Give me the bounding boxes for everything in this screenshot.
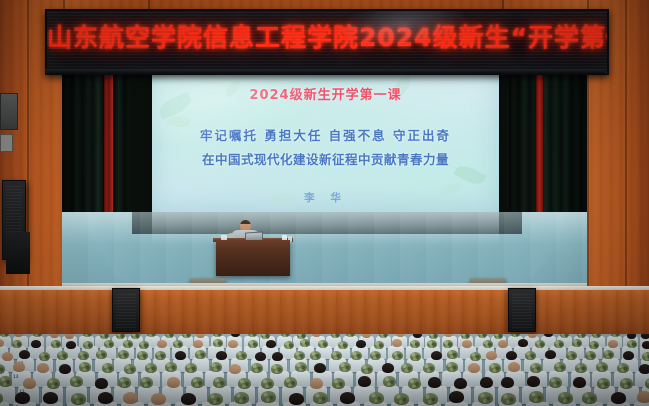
audience-head-with-cap <box>294 351 305 360</box>
apron-texture <box>0 290 649 338</box>
audience-head <box>23 378 36 389</box>
speaker-cabinet-left <box>112 288 140 332</box>
audience-head-with-cap <box>131 334 140 339</box>
audience-head-with-cap <box>554 340 564 348</box>
audience-head-with-cap <box>284 377 297 388</box>
audience-head-with-cap <box>446 362 458 372</box>
audience-head-with-cap <box>236 351 247 360</box>
audience-head-with-cap <box>525 351 536 360</box>
audience-head <box>314 363 326 373</box>
audience-head-with-cap <box>478 392 493 404</box>
audience-area: 15131215 <box>0 334 649 406</box>
audience-head-with-cap <box>370 351 381 360</box>
audience-head-with-cap <box>443 340 453 348</box>
audience-head-with-cap <box>118 377 131 388</box>
audience-head-with-cap <box>627 340 637 348</box>
audience-head-with-cap <box>401 363 413 373</box>
audience-head-with-cap <box>383 376 396 387</box>
audience-head-with-cap <box>558 392 573 404</box>
audience-head-with-cap <box>410 352 421 361</box>
audience-head-with-cap <box>429 334 438 339</box>
audience-head-with-cap <box>461 334 470 339</box>
audience-head-with-cap <box>620 378 633 389</box>
audience-head <box>608 340 618 348</box>
audience-head <box>2 352 13 361</box>
audience-head <box>43 392 58 404</box>
audience-head <box>123 392 138 404</box>
audience-head-with-cap <box>182 334 191 338</box>
audience-head <box>19 350 30 359</box>
audience-head-with-cap <box>83 341 93 349</box>
audience-head <box>255 352 266 361</box>
audience-head-with-cap <box>392 351 403 360</box>
audience-head-with-cap <box>140 377 153 388</box>
audience-head <box>98 392 113 404</box>
pa-speaker-base <box>6 232 30 274</box>
audience-head-with-cap <box>361 364 373 374</box>
slide-content: 2024级新生开学第一课 牢记嘱托 勇担大任 自强不息 守正出奇 在中国式现代化… <box>152 72 499 212</box>
audience-head-with-cap <box>554 362 566 372</box>
audience-head-with-cap <box>582 392 597 404</box>
audience-head-with-cap <box>165 362 177 372</box>
audience-head-with-cap <box>47 378 60 389</box>
audience-head-with-cap <box>139 341 149 349</box>
audience-head-with-cap <box>351 351 362 360</box>
audience-head-with-cap <box>79 362 91 372</box>
led-panel-lip <box>45 69 605 74</box>
audience-head-with-cap <box>70 376 83 387</box>
audience-head-with-cap <box>374 341 384 349</box>
audience-head-with-cap <box>234 392 249 404</box>
audience-head <box>266 340 276 348</box>
audience-head <box>66 341 76 349</box>
audience-head-with-cap <box>501 393 516 405</box>
audience-head-with-cap <box>549 377 562 388</box>
auditorium-photo: 2024级新生开学第一课 牢记嘱托 勇担大任 自强不息 守正出奇 在中国式现代化… <box>0 0 649 406</box>
audience-head-with-cap <box>185 363 197 373</box>
audience-head-with-cap <box>195 350 206 359</box>
audience-head <box>157 340 167 348</box>
audience-head-with-cap <box>145 363 157 373</box>
audience-head-with-cap <box>332 378 345 389</box>
audience-head-with-cap <box>96 350 107 359</box>
audience-head <box>623 351 634 360</box>
audience-head-with-cap <box>589 341 599 349</box>
audience-head <box>527 376 540 387</box>
audience-head <box>358 376 371 387</box>
audience-head-with-cap <box>261 391 276 403</box>
audience-head <box>518 339 528 347</box>
audience-head-with-cap <box>489 363 501 373</box>
audience-head <box>454 378 467 389</box>
audience-head <box>175 351 186 360</box>
wall-vent <box>0 93 18 130</box>
audience-head-with-cap <box>575 363 587 373</box>
audience-head-with-cap <box>57 351 68 360</box>
audience-head-with-cap <box>331 334 340 338</box>
audience-head <box>167 377 180 388</box>
audience-head-with-cap <box>118 350 129 359</box>
wall-switch-box <box>0 134 13 152</box>
audience-head-with-cap <box>12 340 22 348</box>
audience-head <box>310 378 323 389</box>
audience-head-with-cap <box>447 350 458 359</box>
audience-head-with-cap <box>300 339 310 347</box>
audience-head-with-cap <box>116 334 125 339</box>
audience-head-with-cap <box>102 363 114 373</box>
audience-head <box>272 352 283 361</box>
audience-head <box>611 392 626 404</box>
audience-head <box>641 334 649 339</box>
audience-head-with-cap <box>284 341 294 349</box>
audience-head-with-cap <box>408 378 421 389</box>
audience-head <box>501 377 514 388</box>
audience-head-with-cap <box>210 362 222 372</box>
audience-head <box>65 334 74 339</box>
audience-head <box>382 363 394 373</box>
audience-head <box>545 350 556 359</box>
audience-head-with-cap <box>124 364 136 374</box>
audience-head <box>95 378 108 389</box>
presenter-desk <box>216 240 290 276</box>
audience-head <box>428 377 441 388</box>
audience-head <box>289 393 304 405</box>
audience-head <box>15 392 30 404</box>
audience-head-with-cap <box>483 340 493 348</box>
floor-gloss <box>62 212 587 290</box>
audience-seat <box>0 402 9 406</box>
audience-head <box>356 340 366 348</box>
audience-head-with-cap <box>271 364 283 374</box>
audience-head-with-cap <box>394 393 409 405</box>
audience-head-with-cap <box>645 378 649 389</box>
audience-head-with-cap <box>238 378 251 389</box>
slide-line-2: 在中国式现代化建设新征程中贡献青春力量 <box>152 149 499 168</box>
audience-head-with-cap <box>137 351 148 360</box>
audience-head-with-cap <box>123 340 133 348</box>
audience-head-with-cap <box>470 352 481 361</box>
audience-head-with-cap <box>155 351 166 360</box>
audience-head <box>392 339 402 347</box>
audience-head <box>486 351 497 360</box>
audience-head <box>431 351 442 360</box>
audience-head-with-cap <box>297 334 306 339</box>
audience-head-with-cap <box>423 393 438 405</box>
audience-head <box>506 351 517 360</box>
audience-head <box>37 363 49 373</box>
audience-head-with-cap <box>318 340 328 348</box>
audience-head-with-cap <box>597 378 610 389</box>
audience-head-with-cap <box>39 352 50 361</box>
audience-head-with-cap <box>71 393 86 405</box>
audience-head-with-cap <box>617 363 629 373</box>
audience-head-with-cap <box>585 351 596 360</box>
audience-head-with-cap <box>104 340 114 348</box>
audience-head <box>340 392 355 404</box>
audience-head-with-cap <box>423 363 435 373</box>
audience-head <box>181 393 196 405</box>
audience-head-with-cap <box>603 350 614 359</box>
audience-head <box>13 362 25 372</box>
audience-head-with-cap <box>295 362 307 372</box>
slide-line-1: 牢记嘱托 勇担大任 自强不息 守正出奇 <box>152 125 499 144</box>
audience-head-with-cap <box>535 340 545 348</box>
speaker-cabinet-right <box>508 288 536 332</box>
slide-title: 2024级新生开学第一课 <box>152 84 499 103</box>
audience-head <box>468 363 480 373</box>
audience-head-with-cap <box>379 334 388 338</box>
audience-head-with-cap <box>369 392 384 404</box>
audience-head-with-cap <box>642 352 649 361</box>
audience-head-with-cap <box>310 351 321 360</box>
audience-head-with-cap <box>478 334 487 338</box>
audience-head-with-cap <box>596 362 608 372</box>
speaker-grill <box>116 292 136 328</box>
audience-head-with-cap <box>572 339 582 347</box>
slide-presenter-name: 李 华 <box>152 190 499 205</box>
audience-head-with-cap <box>530 363 542 373</box>
audience-head-with-cap <box>0 376 12 387</box>
audience-head-with-cap <box>261 334 270 339</box>
audience-head <box>229 364 241 374</box>
audience-head <box>59 364 71 374</box>
audience-head-with-cap <box>331 351 342 360</box>
audience-head-with-cap <box>251 363 263 373</box>
audience-head <box>639 364 649 374</box>
audience-head-with-cap <box>191 377 204 388</box>
audience-head-with-cap <box>338 341 348 349</box>
audience-head <box>573 377 586 388</box>
audience-head <box>508 362 520 372</box>
audience-head-with-cap <box>208 393 223 405</box>
led-banner-text: 山东航空学院信息工程学院2024级新生“开学第一课” <box>47 25 607 50</box>
audience-head <box>216 351 227 360</box>
audience-head-with-cap <box>313 392 328 404</box>
seat-number: 13 <box>13 374 19 379</box>
audience-head-with-cap <box>100 334 109 339</box>
projection-screen: 2024级新生开学第一课 牢记嘱托 勇担大任 自强不息 守正出奇 在中国式现代化… <box>152 72 499 212</box>
audience-head <box>151 393 166 405</box>
audience-head-with-cap <box>427 340 437 348</box>
audience-head <box>498 340 508 348</box>
audience-head-with-cap <box>566 351 577 360</box>
speaker-grill <box>512 292 532 328</box>
audience-head-with-cap <box>261 378 274 389</box>
audience-head-with-cap <box>78 351 89 360</box>
audience-head <box>637 391 649 403</box>
audience-head-with-cap <box>213 377 226 388</box>
audience-head <box>480 377 493 388</box>
audience-head <box>228 340 238 348</box>
audience-head <box>642 341 649 349</box>
led-banner-panel: 山东航空学院信息工程学院2024级新生“开学第一课” <box>45 9 609 75</box>
audience-head-with-cap <box>213 339 223 347</box>
audience-head-with-cap <box>51 340 61 348</box>
